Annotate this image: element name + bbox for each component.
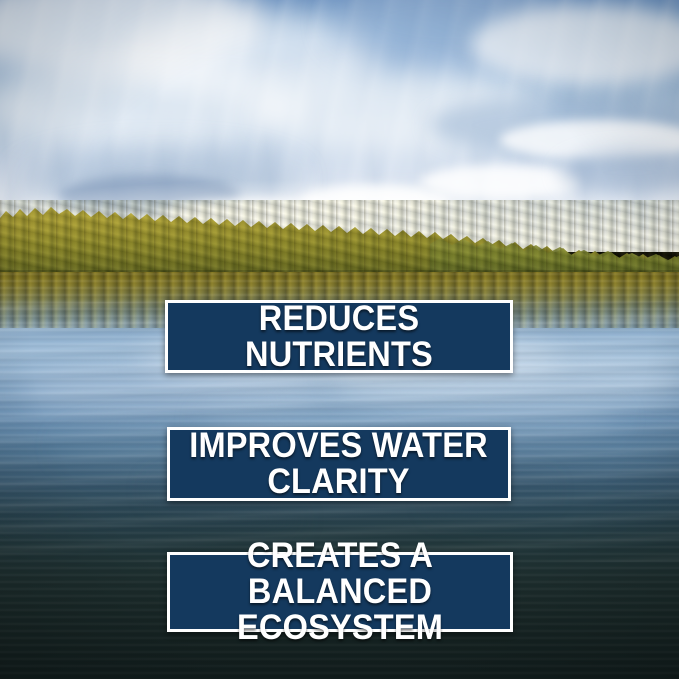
benefit-box-improves-water-clarity: IMPROVES WATER CLARITY <box>167 427 511 501</box>
benefit-label-text: CREATES A BALANCED ECOSYSTEM <box>182 538 498 645</box>
benefit-label-text: IMPROVES WATER CLARITY <box>182 428 495 499</box>
benefit-box-reduces-nutrients: REDUCES NUTRIENTS <box>165 300 513 373</box>
benefit-label-text: REDUCES NUTRIENTS <box>180 301 498 372</box>
benefit-labels: REDUCES NUTRIENTS IMPROVES WATER CLARITY… <box>0 0 679 679</box>
promo-image: REDUCES NUTRIENTS IMPROVES WATER CLARITY… <box>0 0 679 679</box>
benefit-box-creates-balanced-ecosystem: CREATES A BALANCED ECOSYSTEM <box>167 552 513 632</box>
